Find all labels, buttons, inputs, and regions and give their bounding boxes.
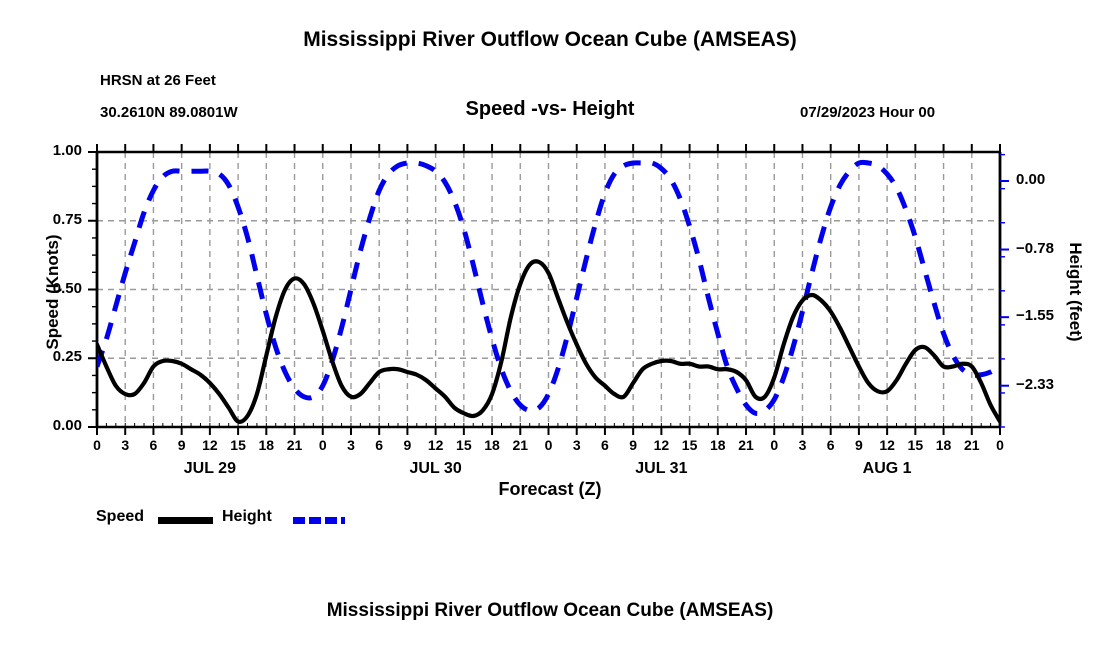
x-tick-label: 0 [759, 437, 789, 453]
y-tick-label-left: 1.00 [22, 142, 82, 159]
legend-swatch-height [293, 517, 345, 524]
x-tick-label: 0 [985, 437, 1015, 453]
x-tick-label: 0 [82, 437, 112, 453]
x-tick-label: 15 [223, 437, 253, 453]
x-axis-day-label: JUL 31 [591, 460, 731, 478]
y-tick-label-right: −1.55 [1016, 307, 1086, 324]
x-tick-label: 18 [251, 437, 281, 453]
x-tick-label: 6 [138, 437, 168, 453]
x-tick-label: 0 [534, 437, 564, 453]
x-tick-label: 6 [364, 437, 394, 453]
x-tick-label: 0 [308, 437, 338, 453]
x-tick-label: 18 [929, 437, 959, 453]
legend-label-height: Height [222, 508, 272, 526]
x-tick-label: 21 [505, 437, 535, 453]
x-tick-label: 3 [787, 437, 817, 453]
x-axis-day-label: AUG 1 [817, 460, 957, 478]
chart-figure: Mississippi River Outflow Ocean Cube (AM… [0, 0, 1100, 650]
x-tick-label: 21 [731, 437, 761, 453]
y-tick-label-right: −2.33 [1016, 376, 1086, 393]
y-tick-label-right: −0.78 [1016, 240, 1086, 257]
x-tick-label: 12 [872, 437, 902, 453]
x-tick-label: 18 [703, 437, 733, 453]
x-tick-label: 12 [195, 437, 225, 453]
y-tick-label-left: 0.50 [22, 280, 82, 297]
x-tick-label: 9 [618, 437, 648, 453]
chart-title-bottom: Mississippi River Outflow Ocean Cube (AM… [0, 600, 1100, 622]
x-tick-label: 18 [477, 437, 507, 453]
x-axis-day-label: JUL 30 [366, 460, 506, 478]
x-tick-label: 15 [449, 437, 479, 453]
legend-label-speed: Speed [96, 508, 144, 526]
legend-swatch-speed [158, 517, 213, 524]
x-tick-label: 6 [590, 437, 620, 453]
plot-area [0, 0, 1100, 650]
x-tick-label: 3 [110, 437, 140, 453]
x-tick-label: 9 [167, 437, 197, 453]
gridlines [97, 152, 1000, 427]
y-tick-label-left: 0.25 [22, 348, 82, 365]
y-tick-label-left: 0.00 [22, 417, 82, 434]
x-axis-day-label: JUL 29 [140, 460, 280, 478]
x-tick-label: 15 [900, 437, 930, 453]
x-tick-label: 6 [816, 437, 846, 453]
x-tick-label: 3 [336, 437, 366, 453]
x-tick-label: 3 [562, 437, 592, 453]
x-tick-label: 21 [280, 437, 310, 453]
x-tick-label: 21 [957, 437, 987, 453]
x-tick-label: 12 [421, 437, 451, 453]
x-tick-label: 9 [844, 437, 874, 453]
y-tick-label-left: 0.75 [22, 211, 82, 228]
x-tick-label: 9 [392, 437, 422, 453]
y-tick-label-right: 0.00 [1016, 171, 1086, 188]
x-tick-label: 12 [646, 437, 676, 453]
x-tick-label: 15 [675, 437, 705, 453]
